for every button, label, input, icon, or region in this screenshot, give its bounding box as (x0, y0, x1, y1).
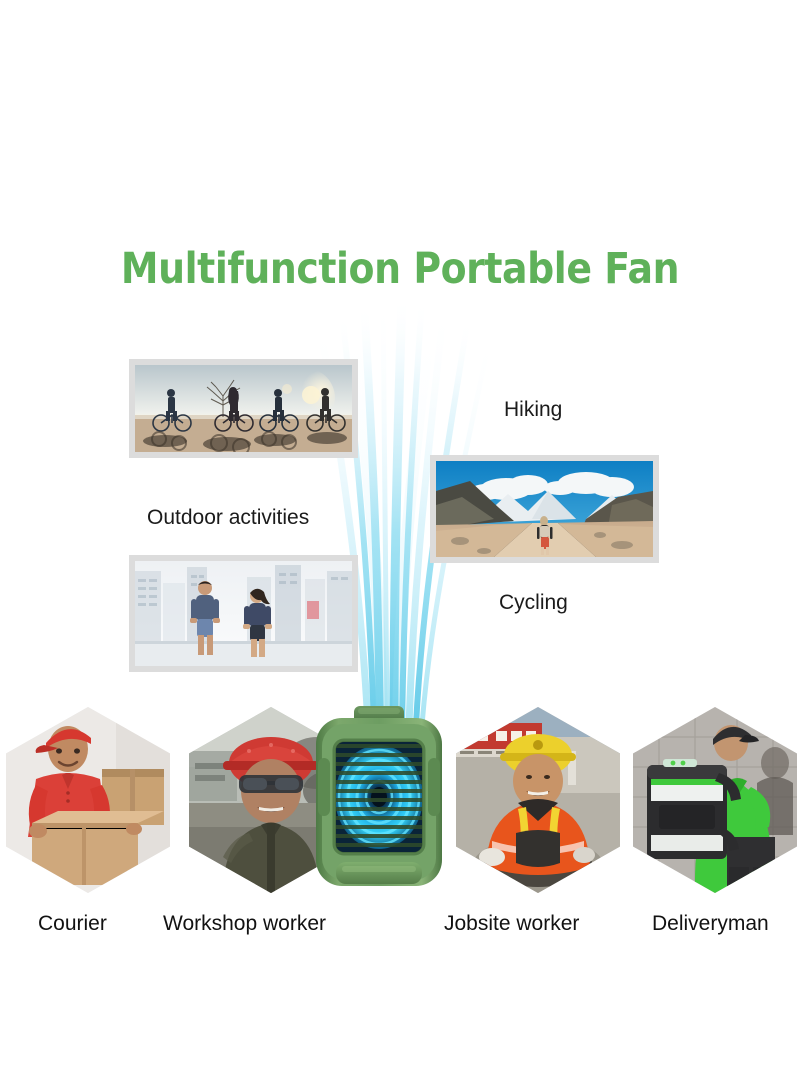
persona-caption-workshop: Workshop worker (163, 912, 326, 936)
portable-fan-product (314, 706, 444, 898)
scene-caption-outdoor: Outdoor activities (147, 506, 309, 530)
scene-photo-running (129, 555, 358, 672)
scene-photo-outdoor (129, 359, 358, 458)
scene-caption-hiking: Hiking (504, 398, 562, 422)
persona-photo-delivery (633, 707, 797, 893)
persona-caption-delivery: Deliveryman (652, 912, 769, 936)
page-title: Multifunction Portable Fan (48, 243, 752, 295)
scene-photo-hiking (430, 455, 659, 563)
persona-caption-courier: Courier (38, 912, 107, 936)
persona-photo-courier (6, 707, 170, 893)
persona-caption-jobsite: Jobsite worker (444, 912, 579, 936)
scene-caption-cycling: Cycling (499, 591, 568, 615)
product-poster: Multifunction Portable Fan (0, 0, 800, 1091)
persona-photo-jobsite (456, 707, 620, 893)
